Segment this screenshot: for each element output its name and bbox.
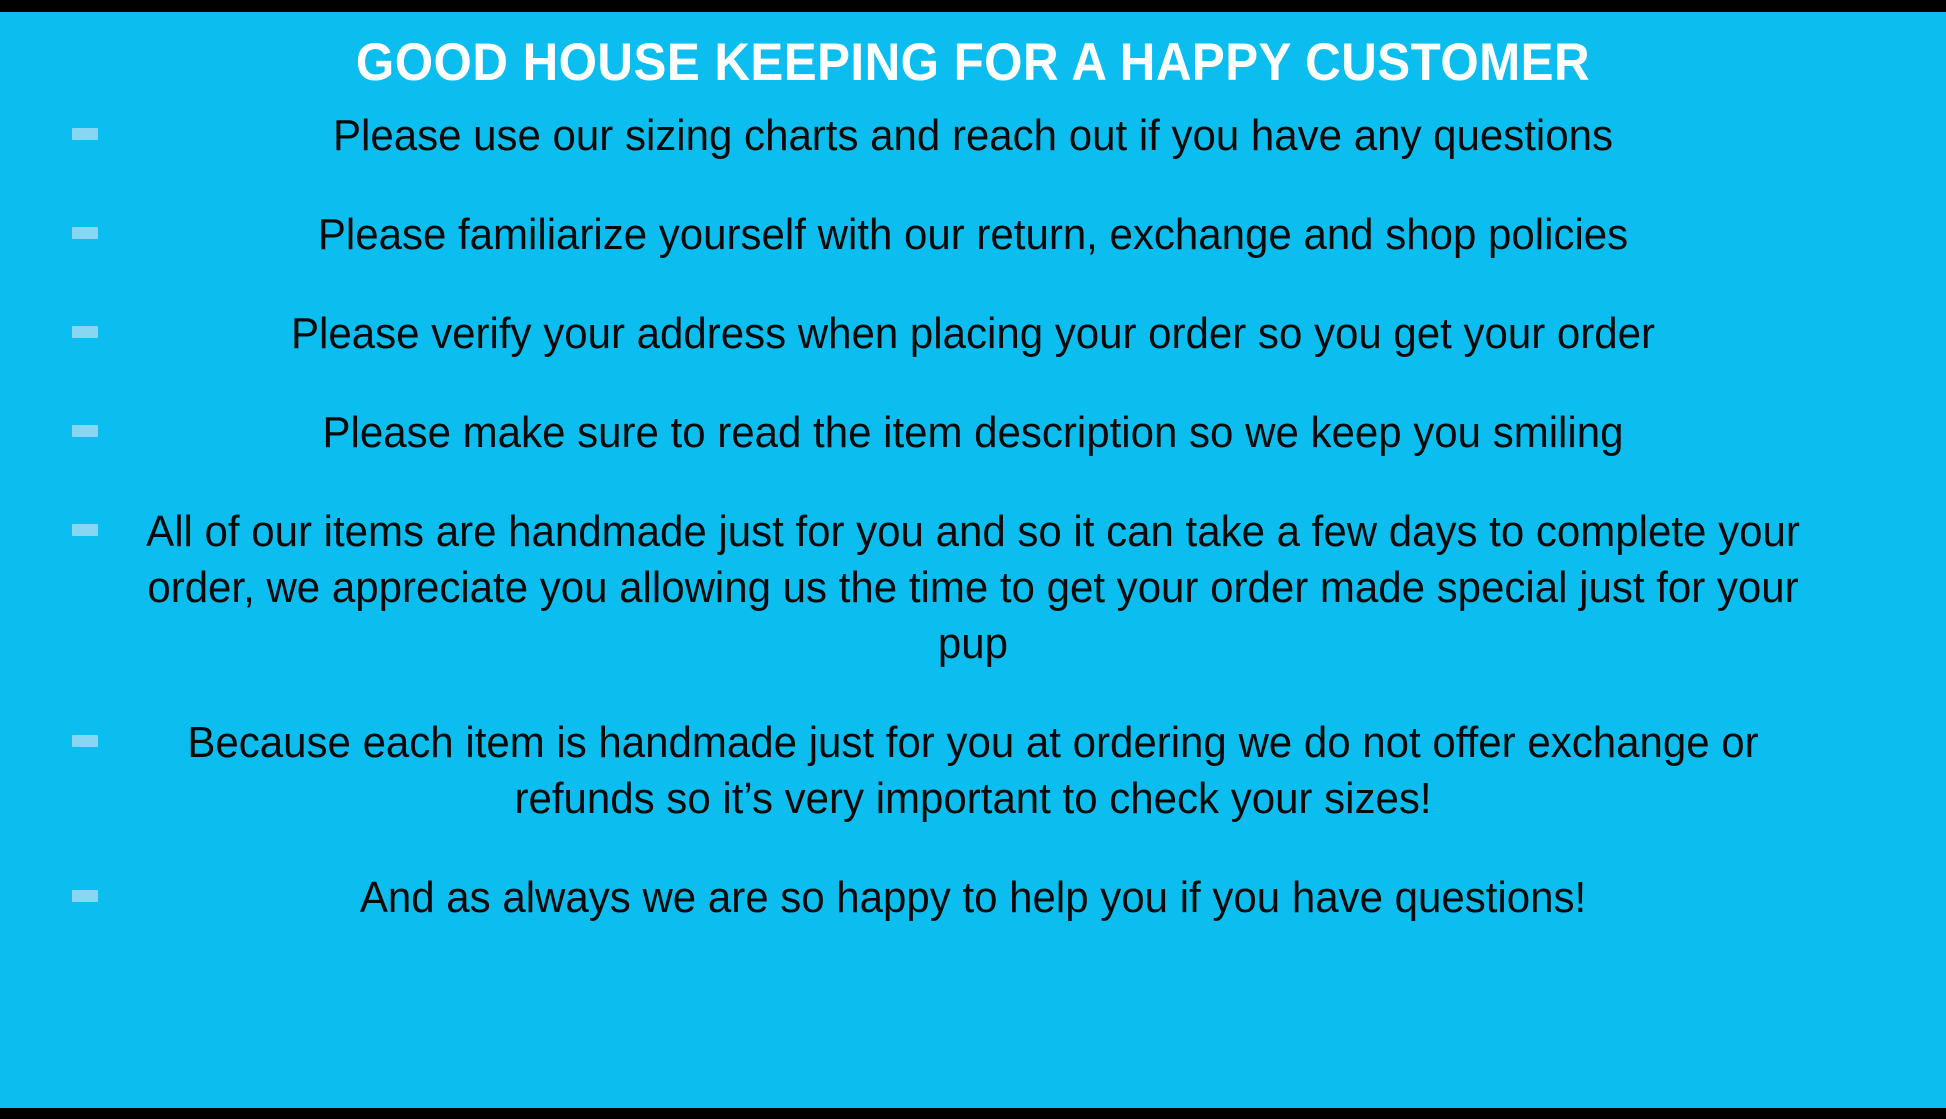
top-black-border: [0, 0, 1946, 12]
bottom-black-border: [0, 1108, 1946, 1119]
bullet-list: Please use our sizing charts and reach o…: [0, 108, 1946, 926]
list-item-label: And as always we are so happy to help yo…: [44, 870, 1902, 926]
list-item: And as always we are so happy to help yo…: [0, 870, 1946, 926]
slide-root: GOOD HOUSE KEEPING FOR A HAPPY CUSTOMER …: [0, 0, 1946, 1119]
list-item-label: Please verify your address when placing …: [44, 306, 1902, 362]
list-item-label: Please use our sizing charts and reach o…: [44, 108, 1902, 164]
list-item: Because each item is handmade just for y…: [0, 715, 1946, 827]
list-item: Please make sure to read the item descri…: [0, 405, 1946, 461]
list-item-label: Please familiarize yourself with our ret…: [44, 207, 1902, 263]
list-item-label: All of our items are handmade just for y…: [44, 504, 1902, 672]
list-item-label: Please make sure to read the item descri…: [44, 405, 1902, 461]
list-item: All of our items are handmade just for y…: [0, 504, 1946, 672]
list-item: Please familiarize yourself with our ret…: [0, 207, 1946, 263]
page-title: GOOD HOUSE KEEPING FOR A HAPPY CUSTOMER: [68, 32, 1878, 94]
list-item-label: Because each item is handmade just for y…: [44, 715, 1902, 827]
slide-canvas: GOOD HOUSE KEEPING FOR A HAPPY CUSTOMER …: [0, 12, 1946, 1108]
list-item: Please use our sizing charts and reach o…: [0, 108, 1946, 164]
list-item: Please verify your address when placing …: [0, 306, 1946, 362]
